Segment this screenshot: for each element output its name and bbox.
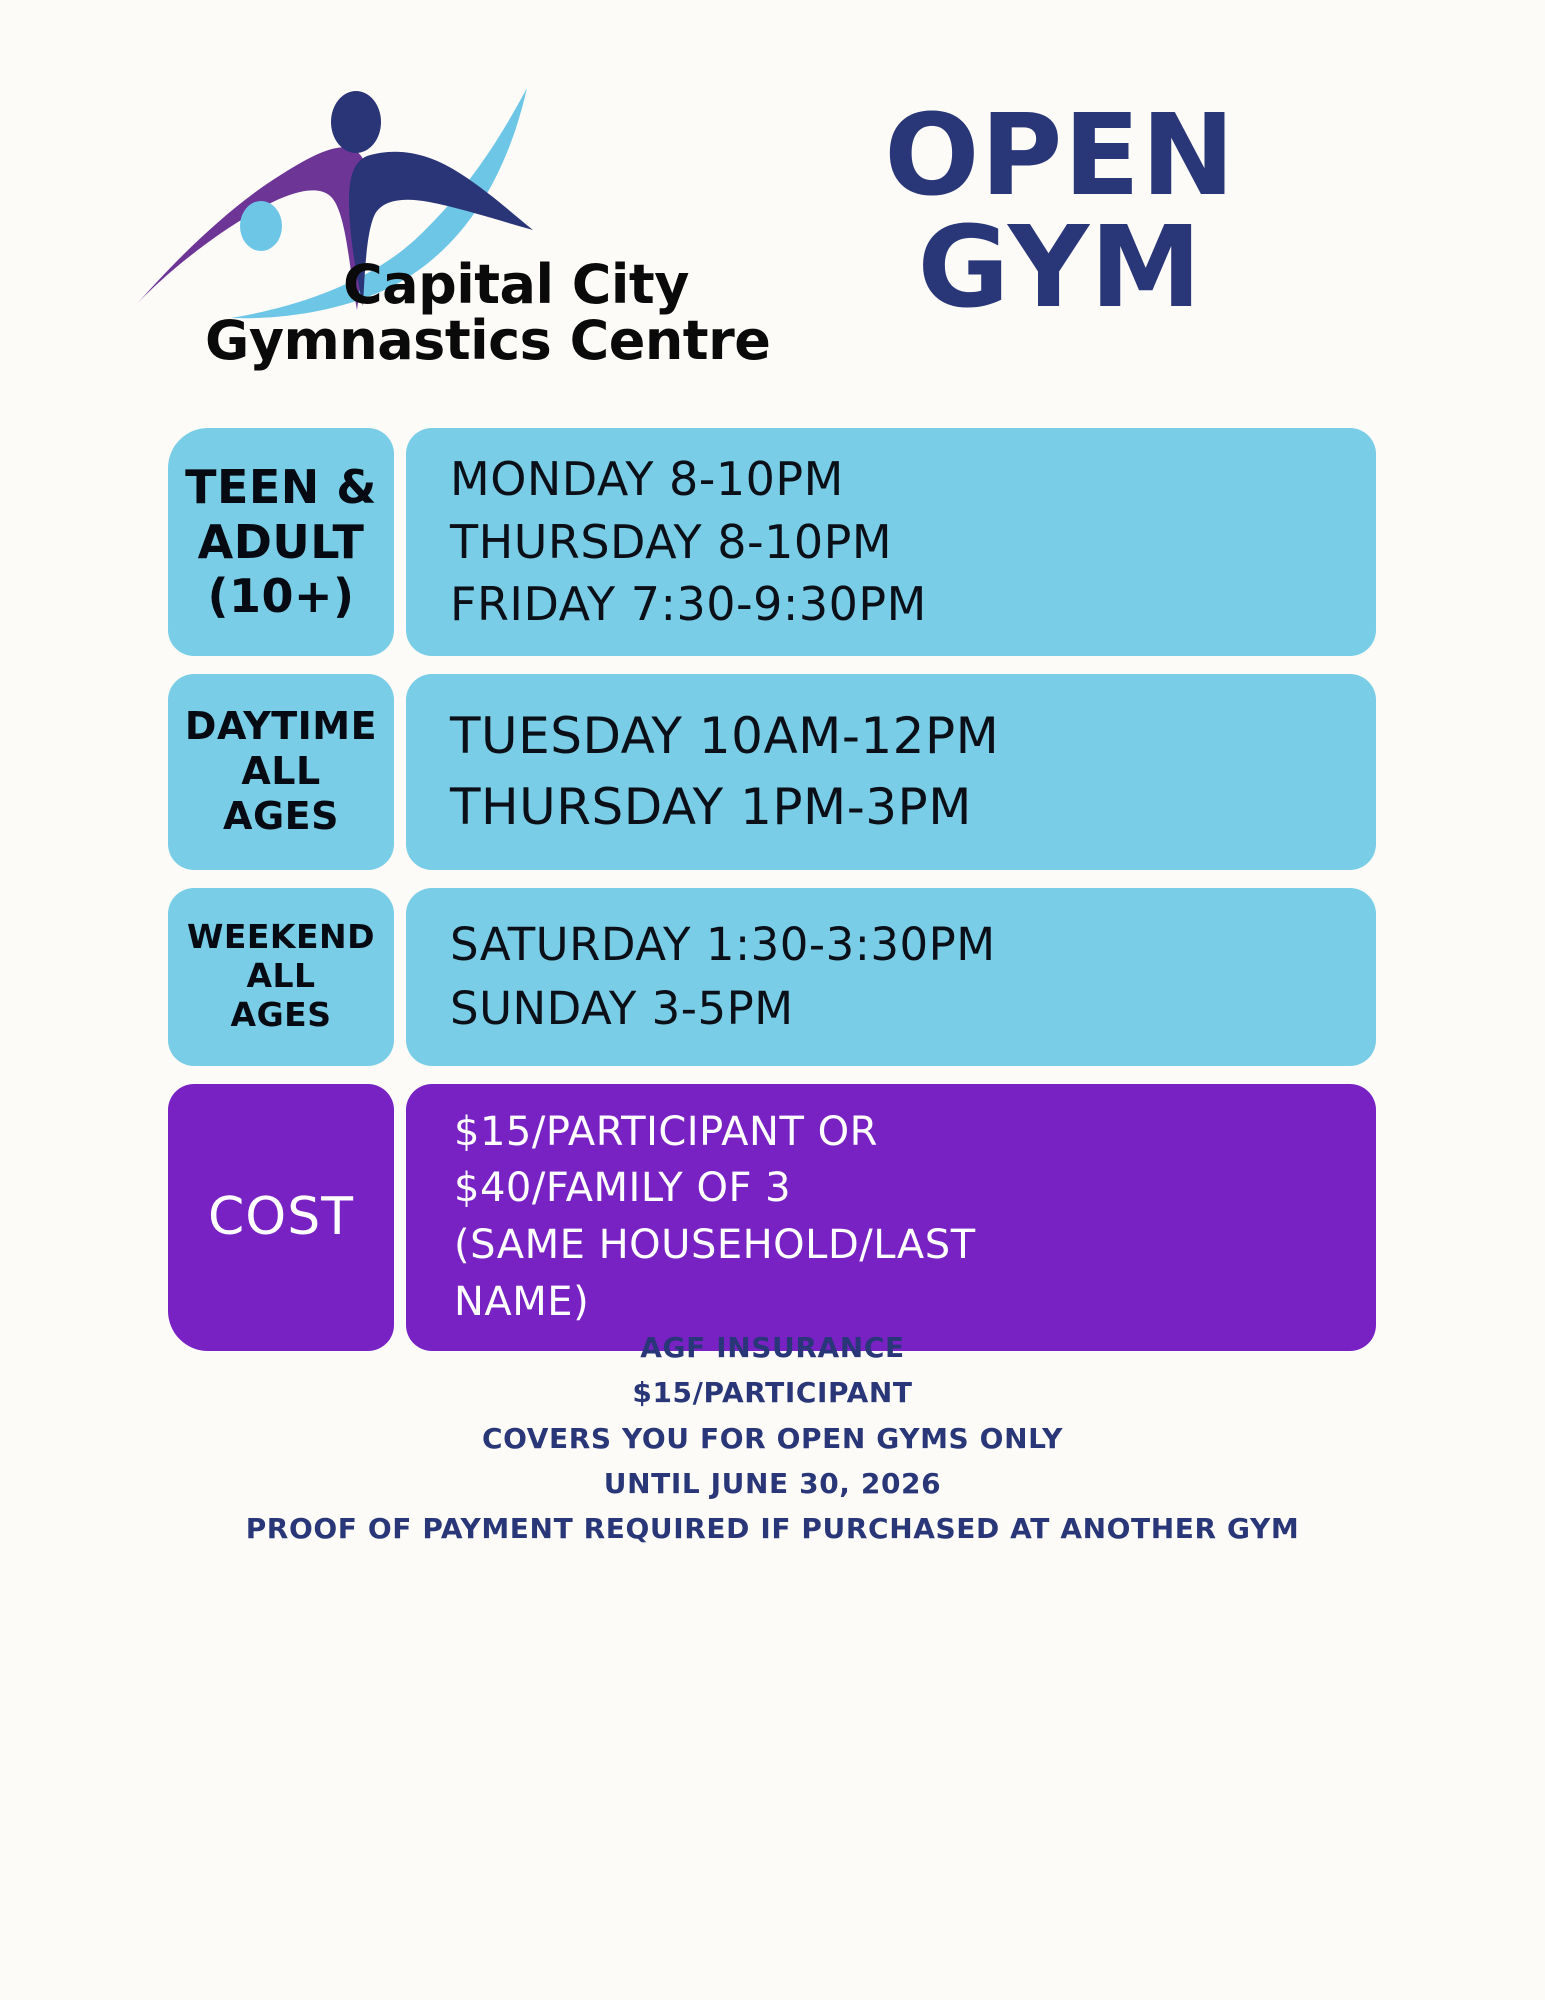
time-line: FRIDAY 7:30-9:30PM	[450, 573, 1376, 636]
category-line: WEEKEND	[187, 918, 375, 957]
category-line: AGES	[231, 996, 332, 1035]
cost-line: $40/FAMILY OF 3	[454, 1160, 1376, 1217]
page-title: OPEN GYM	[760, 100, 1360, 324]
times-cell-daytime-all-ages: TUESDAY 10AM-12PM THURSDAY 1PM-3PM	[406, 674, 1376, 870]
cost-line: NAME)	[454, 1274, 1376, 1331]
time-line: THURSDAY 1PM-3PM	[450, 772, 1376, 843]
logo-line-1: Capital City	[195, 260, 755, 310]
schedule-row-daytime-all-ages: DAYTIME ALL AGES TUESDAY 10AM-12PM THURS…	[168, 674, 1376, 870]
insurance-line: PROOF OF PAYMENT REQUIRED IF PURCHASED A…	[0, 1506, 1545, 1551]
schedule-row-weekend-all-ages: WEEKEND ALL AGES SATURDAY 1:30-3:30PM SU…	[168, 888, 1376, 1066]
schedule-row-teen-adult: TEEN & ADULT (10+) MONDAY 8-10PM THURSDA…	[168, 428, 1376, 656]
page-title-line-1: OPEN	[760, 100, 1360, 212]
time-line: TUESDAY 10AM-12PM	[450, 701, 1376, 772]
logo-line-2: Gymnastics Centre	[195, 316, 755, 366]
times-cell-teen-adult: MONDAY 8-10PM THURSDAY 8-10PM FRIDAY 7:3…	[406, 428, 1376, 656]
category-line: ADULT	[198, 515, 365, 569]
category-cell-teen-adult: TEEN & ADULT (10+)	[168, 428, 394, 656]
category-cell-cost: COST	[168, 1084, 394, 1351]
insurance-notice: AGF INSURANCE $15/PARTICIPANT COVERS YOU…	[0, 1325, 1545, 1552]
category-line: ALL	[246, 957, 315, 996]
open-gym-poster: Capital City Gymnastics Centre OPEN GYM …	[0, 0, 1545, 2000]
gym-logo: Capital City Gymnastics Centre	[135, 80, 745, 380]
time-line: SATURDAY 1:30-3:30PM	[450, 913, 1376, 977]
category-line: COST	[208, 1187, 354, 1248]
insurance-line: COVERS YOU FOR OPEN GYMS ONLY	[0, 1416, 1545, 1461]
schedule-table: TEEN & ADULT (10+) MONDAY 8-10PM THURSDA…	[168, 428, 1376, 1351]
times-cell-cost: $15/PARTICIPANT OR $40/FAMILY OF 3 (SAME…	[406, 1084, 1376, 1351]
category-cell-daytime-all-ages: DAYTIME ALL AGES	[168, 674, 394, 870]
time-line: THURSDAY 8-10PM	[450, 511, 1376, 574]
cost-line: $15/PARTICIPANT OR	[454, 1104, 1376, 1161]
schedule-row-cost: COST $15/PARTICIPANT OR $40/FAMILY OF 3 …	[168, 1084, 1376, 1351]
category-line: ALL	[241, 749, 320, 794]
cost-line: (SAME HOUSEHOLD/LAST	[454, 1217, 1376, 1274]
category-line: (10+)	[207, 569, 354, 623]
category-line: TEEN &	[185, 460, 377, 514]
logo-wordmark: Capital City Gymnastics Centre	[195, 260, 755, 365]
insurance-line: AGF INSURANCE	[0, 1325, 1545, 1370]
page-title-line-2: GYM	[760, 212, 1360, 324]
category-cell-weekend-all-ages: WEEKEND ALL AGES	[168, 888, 394, 1066]
times-cell-weekend-all-ages: SATURDAY 1:30-3:30PM SUNDAY 3-5PM	[406, 888, 1376, 1066]
poster-header: Capital City Gymnastics Centre OPEN GYM	[0, 60, 1545, 390]
insurance-line: UNTIL JUNE 30, 2026	[0, 1461, 1545, 1506]
category-line: DAYTIME	[185, 704, 377, 749]
time-line: SUNDAY 3-5PM	[450, 977, 1376, 1041]
time-line: MONDAY 8-10PM	[450, 448, 1376, 511]
insurance-line: $15/PARTICIPANT	[0, 1370, 1545, 1415]
category-line: AGES	[223, 794, 339, 839]
